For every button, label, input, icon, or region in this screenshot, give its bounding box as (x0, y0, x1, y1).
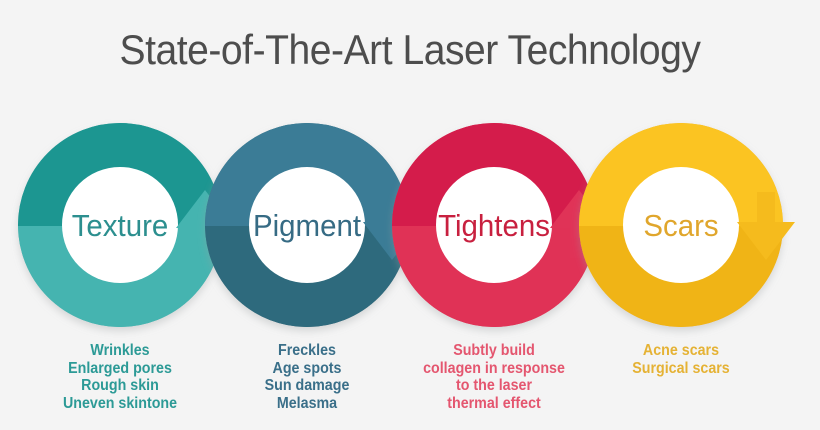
caption-line: Sun damage (206, 377, 408, 395)
ring-scars-inner-disc (623, 167, 739, 283)
ring-texture-inner-disc (62, 167, 178, 283)
caption-line: Enlarged pores (19, 360, 221, 378)
caption-line: collagen in response (393, 360, 595, 378)
caption-line: Surgical scars (580, 360, 782, 378)
caption-tightens: Subtly build collagen in response to the… (393, 342, 595, 412)
caption-line: Subtly build (393, 342, 595, 360)
caption-line: Melasma (206, 395, 408, 413)
caption-scars: Acne scars Surgical scars (580, 342, 782, 377)
caption-line: Age spots (206, 360, 408, 378)
infographic-canvas: State-of-The-Art Laser Technology (0, 0, 820, 430)
caption-texture: Wrinkles Enlarged pores Rough skin Uneve… (19, 342, 221, 412)
caption-line: Wrinkles (19, 342, 221, 360)
caption-line: thermal effect (393, 395, 595, 413)
caption-line: Acne scars (580, 342, 782, 360)
ring-pigment-inner-disc (249, 167, 365, 283)
ring-scars[interactable] (605, 149, 795, 301)
caption-line: Freckles (206, 342, 408, 360)
ring-tightens-inner-disc (436, 167, 552, 283)
caption-line: Rough skin (19, 377, 221, 395)
caption-pigment: Freckles Age spots Sun damage Melasma (206, 342, 408, 412)
caption-line: to the laser (393, 377, 595, 395)
caption-line: Uneven skintone (19, 395, 221, 413)
